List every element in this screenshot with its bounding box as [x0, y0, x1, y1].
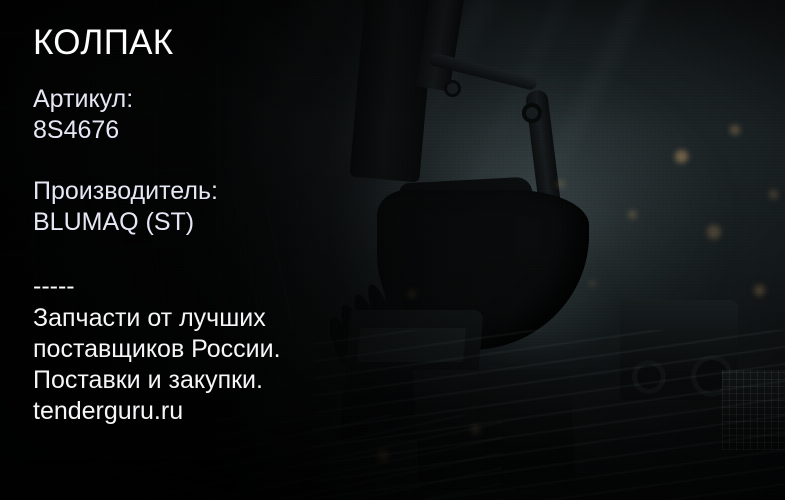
manufacturer-label: Производитель:	[33, 176, 218, 207]
article-label: Артикул:	[33, 84, 133, 115]
manufacturer-field: Производитель: BLUMAQ (ST)	[33, 176, 218, 238]
product-title: КОЛПАК	[33, 22, 173, 64]
text-divider: -----	[33, 274, 75, 299]
article-value: 8S4676	[33, 115, 133, 146]
product-banner: КОЛПАК Артикул: 8S4676 Производитель: BL…	[0, 0, 785, 500]
tagline-line: Запчасти от лучших	[33, 303, 363, 334]
article-field: Артикул: 8S4676	[33, 84, 133, 146]
tagline-block: Запчасти от лучших поставщиков России. П…	[33, 303, 363, 427]
site-url: tenderguru.ru	[33, 396, 363, 427]
tagline-line: Поставки и закупки.	[33, 365, 363, 396]
tagline-line: поставщиков России.	[33, 334, 363, 365]
manufacturer-value: BLUMAQ (ST)	[33, 207, 218, 238]
banner-text-content: КОЛПАК Артикул: 8S4676 Производитель: BL…	[33, 0, 463, 500]
